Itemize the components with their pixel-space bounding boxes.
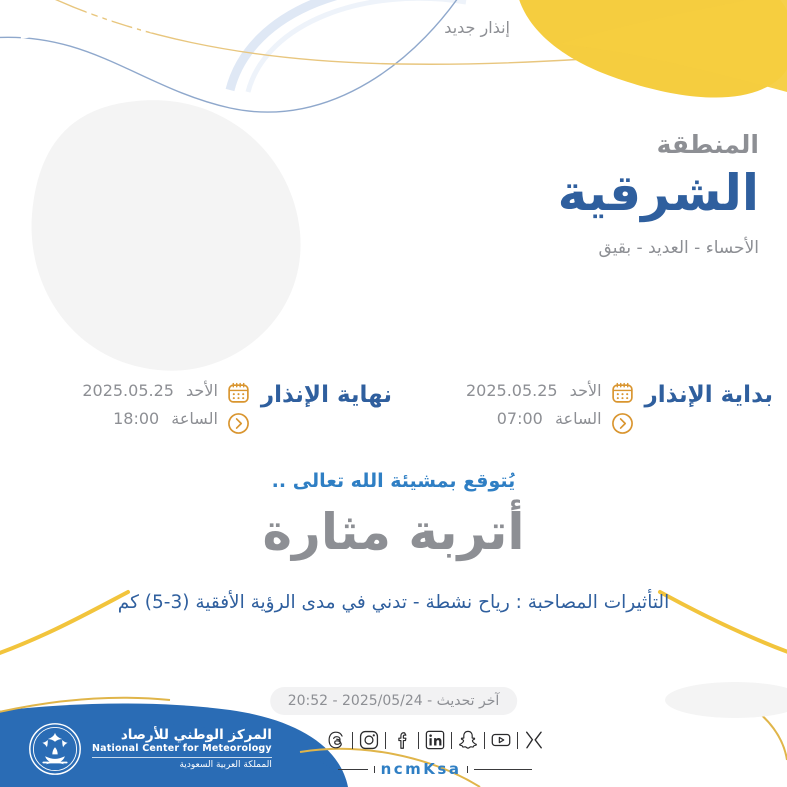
alert-start-date: 2025.05.25 [466, 381, 558, 400]
alert-banner: الإنذار الأصفر [0, 8, 787, 39]
alert-start-block: بداية الإنذار [466, 378, 773, 452]
social-separator [418, 732, 419, 749]
alert-start-day: الأحد [570, 381, 602, 400]
facebook-icon[interactable] [391, 729, 413, 751]
linkedin-icon[interactable] [424, 729, 446, 751]
alert-times-row: بداية الإنذار [0, 378, 787, 452]
alert-end-block: نهاية الإنذار [82, 378, 392, 452]
handle-tick-left [467, 766, 468, 773]
footer: المركز الوطني للأرصاد National Center fo… [0, 700, 787, 787]
social-separator [484, 732, 485, 749]
handle-rule-left [474, 769, 532, 770]
calendar-icon [226, 380, 251, 405]
social-handle[interactable]: ncmKsa [381, 760, 462, 778]
alert-start-time-label: الساعة [555, 409, 602, 428]
threads-icon[interactable] [325, 729, 347, 751]
saudi-emblem-icon [28, 722, 82, 776]
region-areas: الأحساء - العديد - بقيق [339, 237, 759, 259]
alert-start-icons [610, 378, 635, 436]
region-label: المنطقة [339, 130, 759, 160]
chevron-right-circle-icon [226, 411, 251, 436]
alert-start-time-line: الساعة 07:00 [466, 409, 602, 428]
handle-rule-right [338, 769, 368, 770]
alert-start-title: بداية الإنذار [645, 378, 773, 408]
alert-end-values: الأحد 2025.05.25 الساعة 18:00 [82, 378, 218, 428]
instagram-icon[interactable] [358, 729, 380, 751]
alert-end-date: 2025.05.25 [82, 381, 174, 400]
ncm-name-arabic: المركز الوطني للأرصاد [92, 727, 272, 744]
alert-start-values: الأحد 2025.05.25 الساعة 07:00 [466, 378, 602, 428]
alert-end-title: نهاية الإنذار [261, 378, 392, 408]
ncm-logo-text: المركز الوطني للأرصاد National Center fo… [92, 727, 272, 772]
x-twitter-icon[interactable] [523, 729, 545, 751]
chevron-right-circle-icon [610, 411, 635, 436]
region-name: الشرقية [339, 162, 759, 225]
social-icons-row [315, 727, 555, 753]
alert-end-time: 18:00 [113, 409, 159, 428]
alert-start-date-line: الأحد 2025.05.25 [466, 381, 602, 400]
social-links: ncmKsa [315, 727, 555, 778]
alert-start-time: 07:00 [497, 409, 543, 428]
social-separator [385, 732, 386, 749]
ncm-name-english: National Center for Meteorology [92, 743, 272, 758]
phenomenon-name: أتربة مثارة [0, 500, 787, 565]
expectation-text: يُتوقع بمشيئة الله تعالى .. [0, 470, 787, 492]
alert-end-icons [226, 378, 251, 436]
alert-poster: الإنذار الأصفر إنذار جديد المنطقة الشرقي… [0, 0, 787, 787]
social-separator [517, 732, 518, 749]
alert-end-time-line: الساعة 18:00 [82, 409, 218, 428]
calendar-icon [610, 380, 635, 405]
ncm-logo: المركز الوطني للأرصاد National Center fo… [28, 722, 272, 776]
snapchat-icon[interactable] [457, 729, 479, 751]
alert-banner-label: الإنذار الأصفر [22, 8, 203, 39]
alert-end-time-label: الساعة [171, 409, 218, 428]
alert-end-day: الأحد [186, 381, 218, 400]
youtube-icon[interactable] [490, 729, 512, 751]
alert-end-date-line: الأحد 2025.05.25 [82, 381, 218, 400]
ncm-country: المملكة العربية السعودية [92, 760, 272, 771]
social-separator [451, 732, 452, 749]
phenomenon-effects: التأثيرات المصاحبة : رياح نشطة - تدني في… [0, 586, 787, 620]
handle-tick-right [374, 766, 375, 773]
social-separator [352, 732, 353, 749]
region-block: المنطقة الشرقية الأحساء - العديد - بقيق [339, 130, 759, 259]
social-handle-row: ncmKsa [315, 760, 555, 778]
